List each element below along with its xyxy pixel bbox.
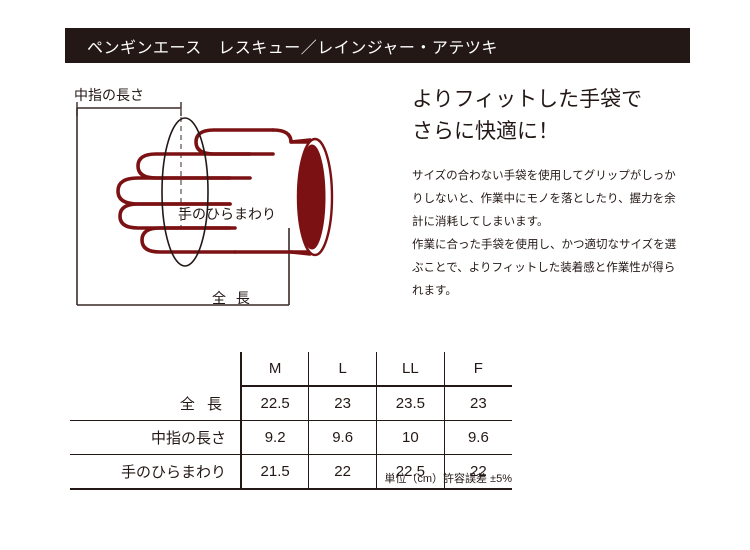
- cell-finger-length-l: 9.6: [309, 421, 377, 455]
- cell-total-length-l: 23: [309, 386, 377, 421]
- column-header-ll: LL: [377, 352, 445, 386]
- palm-circumference-band: [162, 118, 208, 266]
- glove-outline: [118, 130, 313, 252]
- copy-headline-line2: さらに快適に！: [412, 120, 559, 143]
- total-length-label: 全 長: [212, 288, 253, 308]
- copy-body-line: ぶことで、よりフィットした装着感と作業性が得ら: [412, 257, 702, 280]
- copy-headline: よりフィットした手袋で さらに快適に！: [412, 84, 702, 147]
- table-row: 全 長 22.5 23 23.5 23: [70, 386, 512, 421]
- table-note: 単位（cm）許容誤差 ±5%: [384, 470, 512, 486]
- column-header-f: F: [444, 352, 512, 386]
- table-header-row: M L LL F: [70, 352, 512, 386]
- cell-finger-length-f: 9.6: [444, 421, 512, 455]
- row-header-label: 手のひらまわり: [121, 464, 226, 481]
- column-header-l: L: [309, 352, 377, 386]
- page-title: ペンギンエース レスキュー／レインジャー・アテツキ: [87, 34, 498, 58]
- copy-body: サイズの合わない手袋を使用してグリップがしっか りしないと、作業中にモノを落とし…: [412, 165, 702, 303]
- row-header-palm-circumference: 手のひらまわり: [70, 455, 241, 490]
- table-row: 中指の長さ 9.2 9.6 10 9.6: [70, 421, 512, 455]
- copy-body-line: 計に消耗してしまいます。: [412, 211, 702, 234]
- header-bar: ペンギンエース レスキュー／レインジャー・アテツキ: [65, 28, 690, 63]
- cell-total-length-ll: 23.5: [377, 386, 445, 421]
- row-header-label: 全 長: [180, 396, 226, 413]
- table-corner-cell: [70, 352, 241, 386]
- row-header-label: 中指の長さ: [151, 430, 226, 447]
- marketing-copy: よりフィットした手袋で さらに快適に！ サイズの合わない手袋を使用してグリップが…: [412, 84, 702, 303]
- copy-body-line: れます。: [412, 280, 702, 303]
- glove-cuff: [298, 139, 332, 255]
- cell-palm-circumference-m: 21.5: [241, 455, 309, 490]
- cell-finger-length-ll: 10: [377, 421, 445, 455]
- cell-total-length-m: 22.5: [241, 386, 309, 421]
- copy-body-line: サイズの合わない手袋を使用してグリップがしっか: [412, 165, 702, 188]
- row-header-finger-length: 中指の長さ: [70, 421, 241, 455]
- copy-headline-line1: よりフィットした手袋で: [412, 88, 642, 111]
- cell-total-length-f: 23: [444, 386, 512, 421]
- copy-body-line: 作業に合った手袋を使用し、かつ適切なサイズを選: [412, 234, 702, 257]
- cell-finger-length-m: 9.2: [241, 421, 309, 455]
- cell-palm-circumference-l: 22: [309, 455, 377, 490]
- finger-length-label: 中指の長さ: [74, 85, 144, 105]
- palm-circumference-label: 手のひらまわり: [178, 204, 276, 224]
- glove-diagram-svg: [60, 80, 405, 320]
- column-header-m: M: [241, 352, 309, 386]
- copy-body-line: りしないと、作業中にモノを落としたり、握力を余: [412, 188, 702, 211]
- row-header-total-length: 全 長: [70, 386, 241, 421]
- glove-diagram: 中指の長さ 手のひらまわり 全 長: [60, 80, 405, 320]
